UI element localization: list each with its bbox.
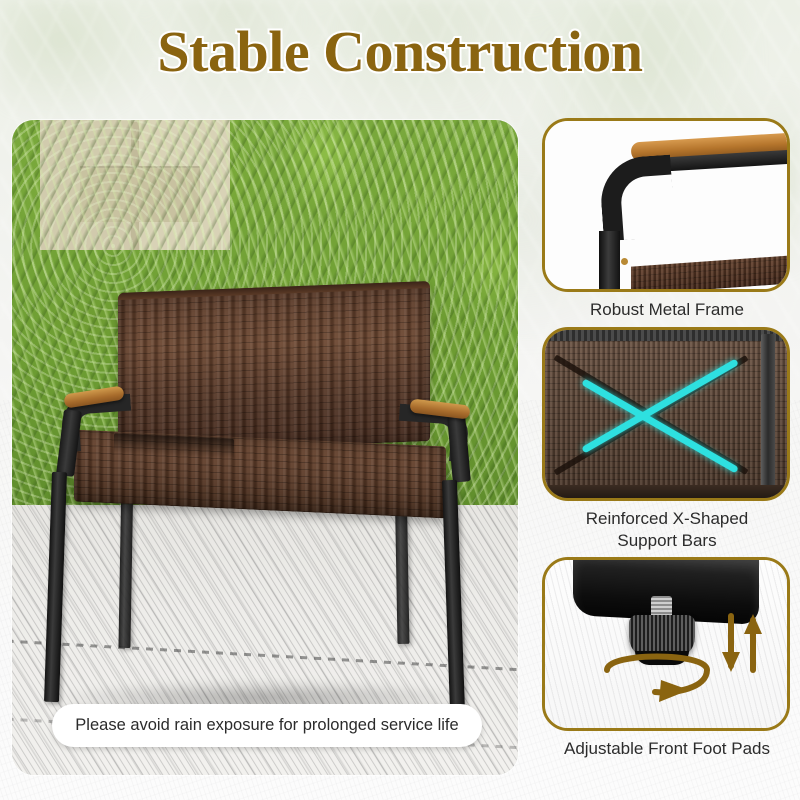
page-title: Stable Construction xyxy=(157,22,642,81)
metal-frame-closeup-icon xyxy=(545,121,787,289)
feature-caption-x-support-bars: Reinforced X-Shaped Support Bars xyxy=(542,508,792,552)
x-highlight-line xyxy=(581,358,739,453)
foot-pad-closeup-icon xyxy=(545,560,787,728)
x-support-bars-closeup-icon xyxy=(545,330,787,498)
wicker-bench xyxy=(12,120,518,775)
rotate-arrow-icon xyxy=(597,644,717,706)
up-down-arrow-icon xyxy=(719,612,765,674)
closeup-arm-curve xyxy=(598,155,676,242)
bench-leg-front-right xyxy=(442,480,465,712)
closeup-screw-icon xyxy=(621,258,628,265)
bench-leg-front-left xyxy=(44,472,67,702)
x-highlight-line xyxy=(581,378,739,473)
feature-caption-adjustable-foot-pads: Adjustable Front Foot Pads xyxy=(542,738,792,760)
hero-care-note: Please avoid rain exposure for prolonged… xyxy=(52,704,482,747)
closeup-top-rail xyxy=(545,330,787,341)
hero-product-photo: Please avoid rain exposure for prolonged… xyxy=(12,120,518,775)
hero-scene xyxy=(12,120,518,775)
feature-card-x-support-bars: Reinforced X-Shaped Support Bars xyxy=(542,327,792,552)
feature-caption-robust-metal-frame: Robust Metal Frame xyxy=(542,299,792,321)
feature-image-frame xyxy=(542,557,790,731)
headline-container: Stable Construction xyxy=(0,22,800,81)
feature-detail-column: Robust Metal Frame Reinforced X-Shaped S… xyxy=(542,118,792,766)
closeup-side-post xyxy=(761,334,775,494)
feature-card-robust-metal-frame: Robust Metal Frame xyxy=(542,118,792,321)
bench-arm-post-right xyxy=(447,415,471,482)
closeup-arm-post xyxy=(599,231,620,292)
closeup-wicker-seat-edge xyxy=(631,255,790,292)
feature-image-frame xyxy=(542,327,790,501)
bench-backrest xyxy=(118,281,430,453)
feature-image-frame xyxy=(542,118,790,292)
bench-backrest-top-edge xyxy=(118,281,430,300)
closeup-bottom-rail xyxy=(545,485,787,498)
feature-card-adjustable-foot-pads: Adjustable Front Foot Pads xyxy=(542,557,792,760)
